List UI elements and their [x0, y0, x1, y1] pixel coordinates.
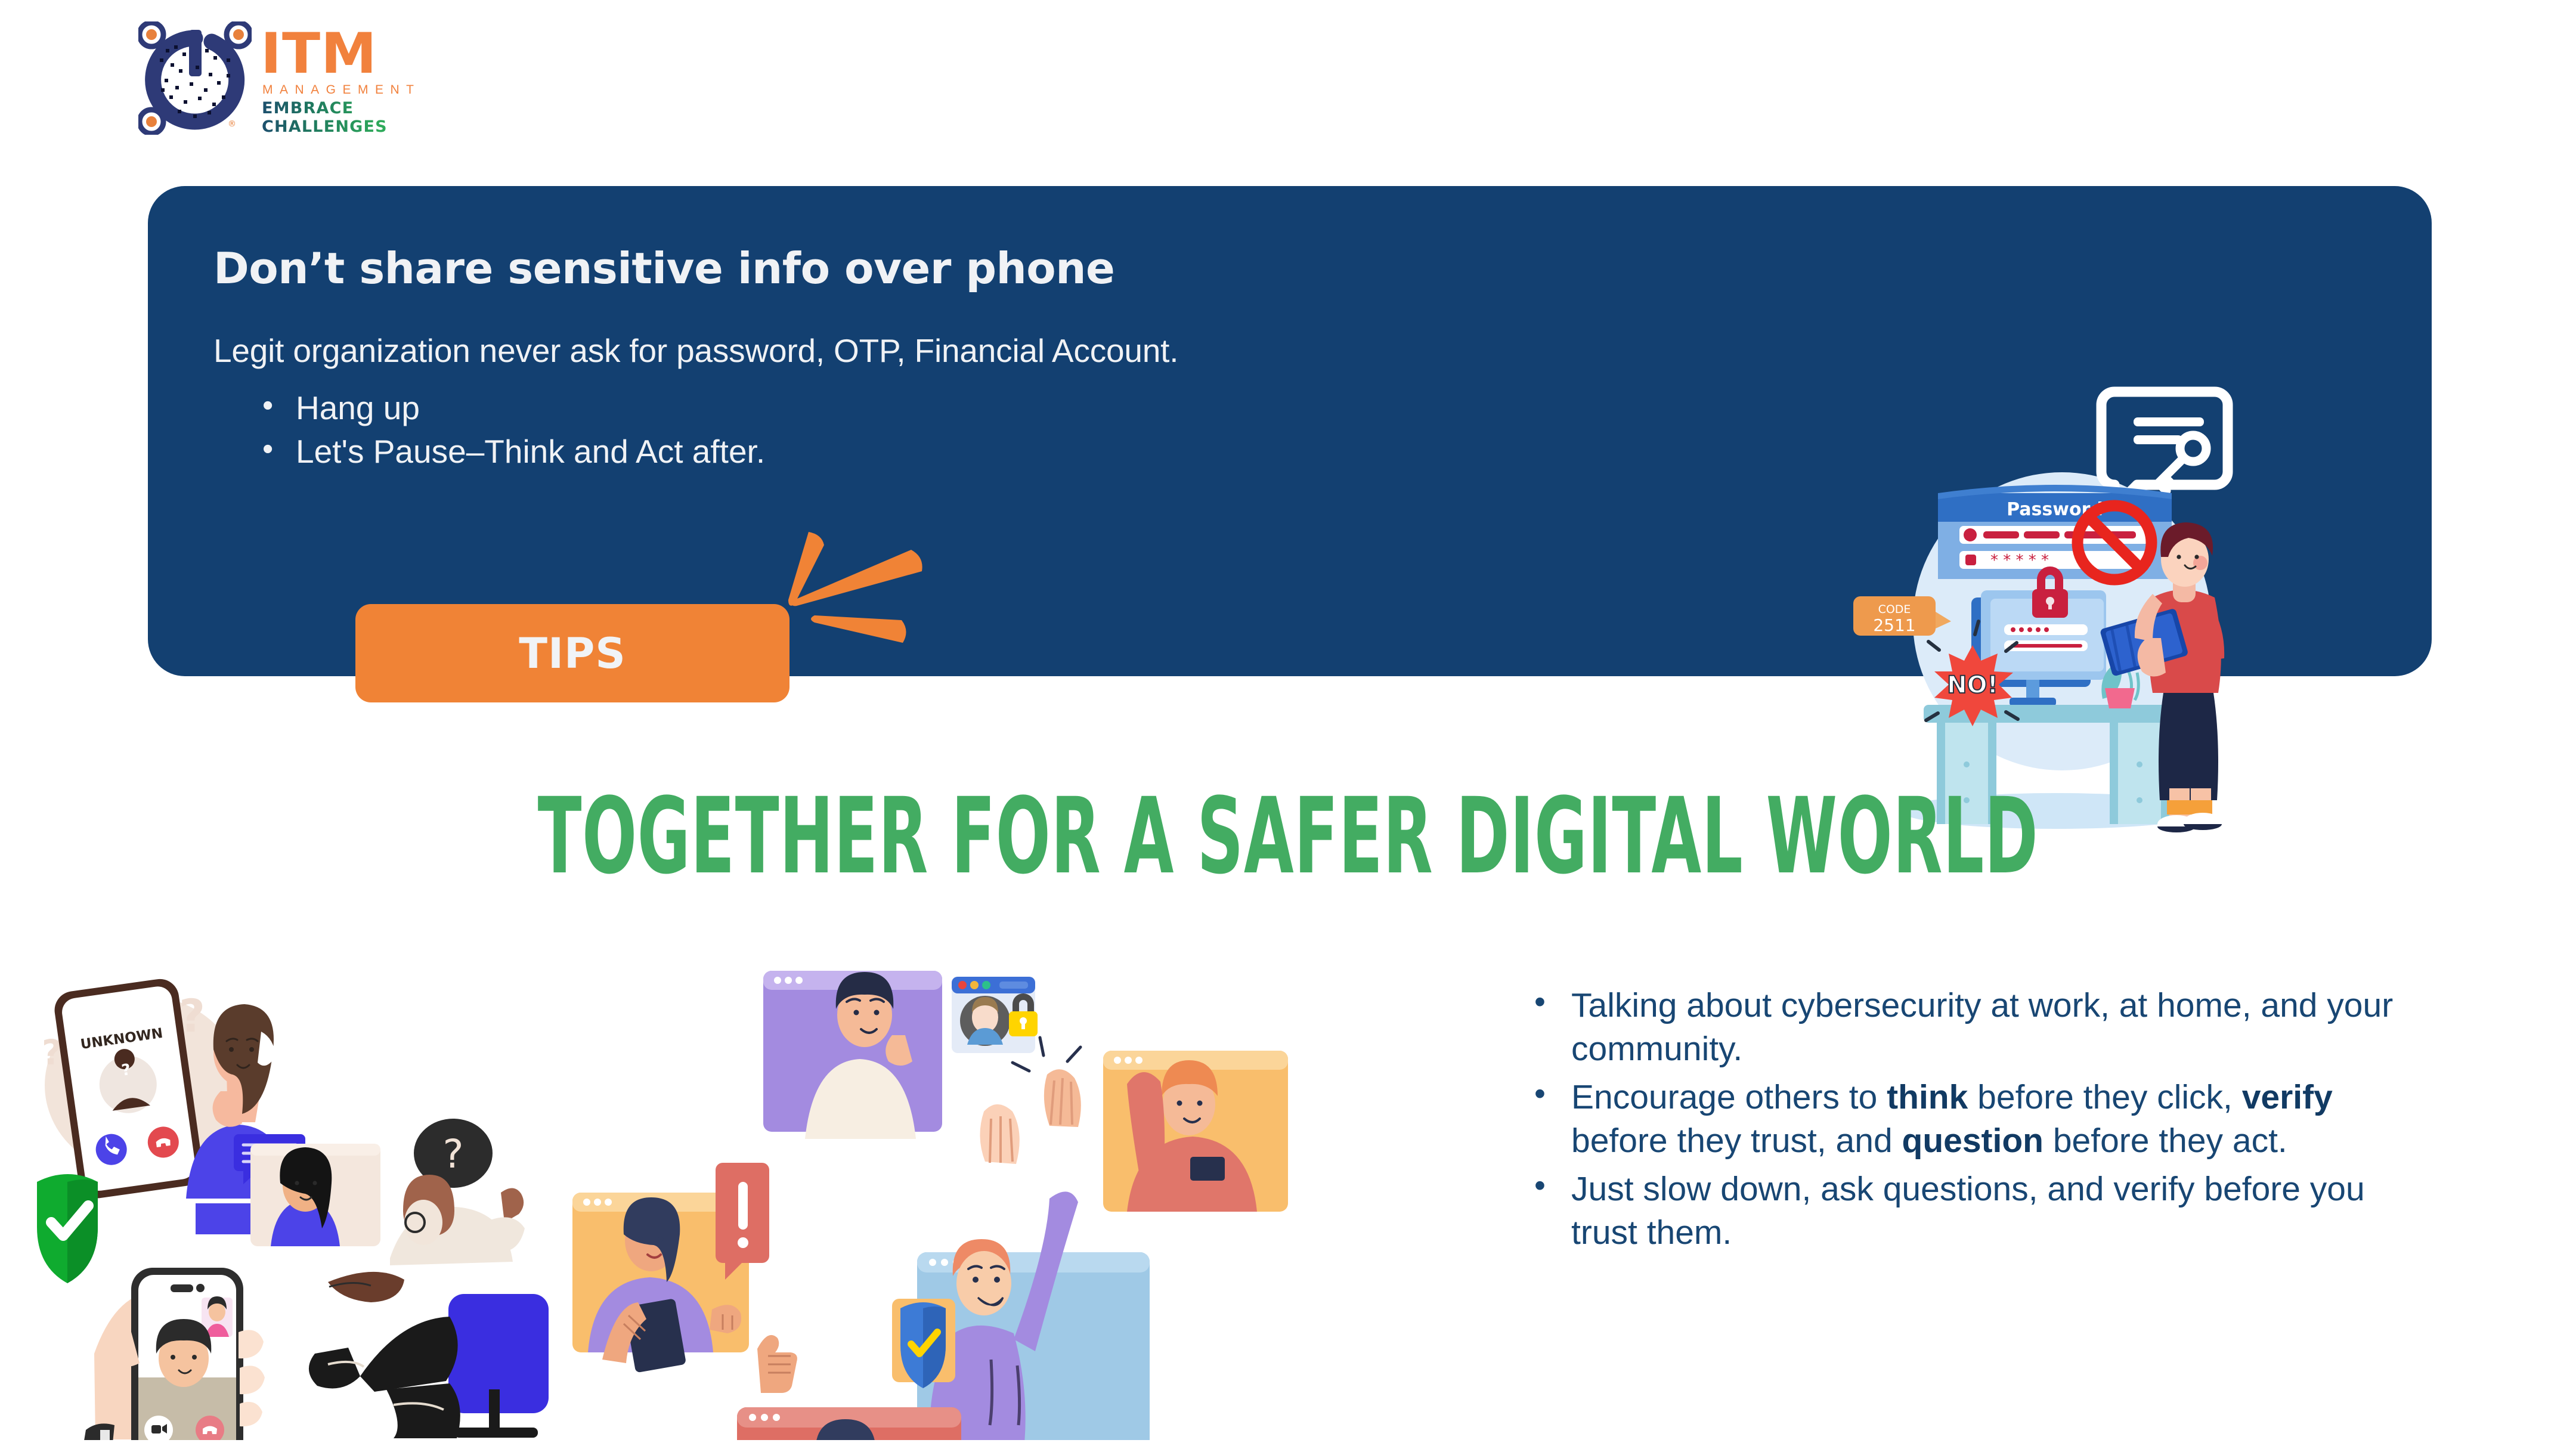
- tips-button[interactable]: TIPS: [355, 604, 789, 702]
- bullet-text-2: Just slow down, ask questions, and verif…: [1571, 1170, 2365, 1252]
- unknown-caller-and-verify-illustration: ? ? UNKNOWN ?: [30, 936, 566, 1440]
- browser-window-icon: [250, 1144, 380, 1246]
- password-masked-value: * * * * *: [1990, 552, 2049, 569]
- logo-brand-text: ITM: [261, 29, 451, 80]
- tip-panel: Don’t share sensitive info over phone Le…: [148, 186, 2432, 676]
- video-conference-community-illustration: ?: [566, 942, 1401, 1440]
- hand-holding-phone-video-call: [83, 1268, 265, 1440]
- refusal-badge-text: NO!: [1947, 671, 1998, 699]
- tip-panel-heading: Don’t share sensitive info over phone: [213, 243, 1114, 293]
- logo-subtitle: MANAGEMENT: [261, 83, 451, 97]
- qr-power-button-icon: ®: [138, 21, 252, 135]
- list-item: Encourage others to think before they cl…: [1529, 1076, 2412, 1163]
- list-item: Hang up: [259, 386, 765, 430]
- page-headline: TOGETHER FOR A SAFER DIGITAL WORLD: [496, 775, 2080, 897]
- padlock-badge-window: [952, 977, 1038, 1053]
- tip-panel-subheading: Legit organization never ask for passwor…: [213, 332, 1178, 370]
- takeaway-bullet-list: Talking about cybersecurity at work, at …: [1529, 984, 2412, 1259]
- list-item: Talking about cybersecurity at work, at …: [1529, 984, 2412, 1071]
- brand-logo: ® ITM MANAGEMENT EMBRACE CHALLENGES: [138, 18, 448, 137]
- shield-check-badge-icon: [892, 1299, 955, 1388]
- bullet-text-0: Talking about cybersecurity at work, at …: [1571, 986, 2393, 1068]
- list-item: Just slow down, ask questions, and verif…: [1529, 1168, 2412, 1255]
- thumbs-up-icon: [757, 1335, 797, 1393]
- code-bubble-value: 2511: [1873, 615, 1915, 635]
- burst-rays-decoration: [775, 525, 930, 668]
- logo-tagline: EMBRACE CHALLENGES: [261, 99, 451, 136]
- list-item: Let's Pause–Think and Act after.: [259, 430, 765, 473]
- green-shield-check-icon: [37, 1174, 98, 1283]
- browser-window-icon: [763, 971, 942, 1139]
- registered-mark: ®: [228, 119, 236, 129]
- browser-window-icon: [1103, 1051, 1288, 1212]
- exclamation-bubble-icon: [716, 1163, 769, 1280]
- bullet-text-1: Encourage others to think before they cl…: [1571, 1078, 2333, 1160]
- code-bubble-label: CODE: [1878, 603, 1911, 616]
- tips-button-label: TIPS: [519, 629, 626, 678]
- tip-panel-bullet-list: Hang up Let's Pause–Think and Act after.: [259, 386, 765, 473]
- svg-text:?: ?: [442, 1131, 463, 1177]
- high-five-icon: [980, 1038, 1080, 1164]
- browser-window-icon: [737, 1407, 961, 1440]
- phishing-password-desk-illustration: Password * * * * *: [1847, 383, 2277, 836]
